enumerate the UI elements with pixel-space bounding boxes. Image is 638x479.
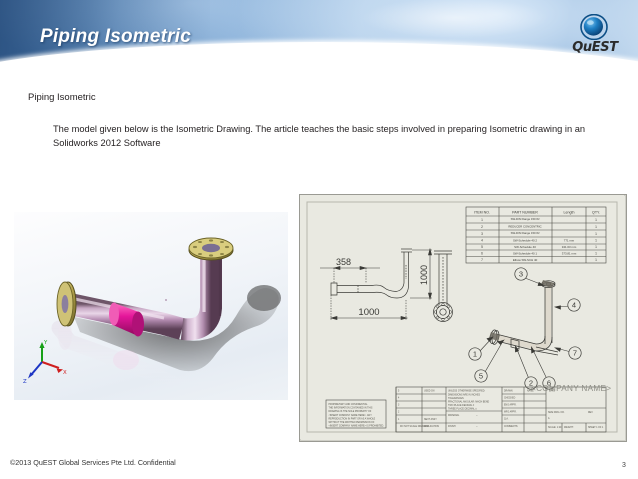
svg-text:FINISH: FINISH <box>448 426 456 428</box>
svg-text:6: 6 <box>481 252 483 256</box>
svg-text:DRAWN: DRAWN <box>504 390 513 393</box>
svg-text:COMMENTS:: COMMENTS: <box>504 426 518 428</box>
svg-text:SHEET 1 OF 1: SHEET 1 OF 1 <box>588 427 604 429</box>
axis-triad: Y X Z <box>23 340 67 385</box>
svg-text:5: 5 <box>481 245 483 249</box>
title-block-company-name: <COMPANY NAME> <box>531 384 611 393</box>
svg-text:CHECKED: CHECKED <box>504 398 516 400</box>
axis-label-z: Z <box>23 379 27 385</box>
svg-text:Q.A.: Q.A. <box>504 418 509 421</box>
svg-text:1: 1 <box>595 252 597 256</box>
svg-text:341.63 mm: 341.63 mm <box>562 245 577 249</box>
svg-text:REV: REV <box>588 412 593 414</box>
bom-header-length: Length <box>564 211 575 215</box>
svg-text:SW-DIN Flange 150 lbf: SW-DIN Flange 150 lbf <box>511 217 540 221</box>
svg-text:3: 3 <box>481 232 483 236</box>
quest-sphere-icon <box>580 14 608 40</box>
dimension-label-358: 358 <box>336 257 351 267</box>
svg-text:DIMENSIONS ARE IN INCHES: DIMENSIONS ARE IN INCHES <box>448 394 481 397</box>
page-number: 3 <box>622 462 626 469</box>
svg-text:1: 1 <box>595 232 597 236</box>
cad-drawing-sheet: ITEM NO. PART NUMBER Length QTY. 1 SW-DI… <box>299 194 627 442</box>
svg-text:1: 1 <box>595 218 597 222</box>
svg-text:Elbow SW-SCH 40: Elbow SW-SCH 40 <box>513 258 538 262</box>
balloon-4: 4 <box>572 301 576 310</box>
svg-text:DRAWING IS THE SOLE PROPERTY O: DRAWING IS THE SOLE PROPERTY OF <box>329 410 372 413</box>
svg-text:1: 1 <box>595 225 597 229</box>
elbow-and-vertical-pipe <box>182 252 220 329</box>
svg-text:MFG APPR.: MFG APPR. <box>504 411 517 414</box>
svg-text:TWO PLACE DECIMAL ±: TWO PLACE DECIMAL ± <box>448 404 475 407</box>
svg-text:SW-Schedule 40: SW-Schedule 40 <box>514 245 536 249</box>
svg-text:4: 4 <box>481 239 483 243</box>
dimension-label-horizontal-1000: 1000 <box>358 307 379 318</box>
svg-text:WITHOUT THE WRITTEN PERMISSION: WITHOUT THE WRITTEN PERMISSION OF <box>329 422 375 424</box>
piping-assembly-render: Y X Z <box>14 212 288 400</box>
svg-text:ENG APPR.: ENG APPR. <box>504 404 517 407</box>
svg-text:7: 7 <box>481 258 483 262</box>
svg-text:WEIGHT:: WEIGHT: <box>564 427 574 429</box>
svg-text:SCALE: 1:20: SCALE: 1:20 <box>548 426 562 429</box>
svg-text:1: 1 <box>481 218 483 222</box>
svg-text:NEXT ASSY: NEXT ASSY <box>424 418 437 421</box>
svg-text:THREE PLACE DECIMAL ±: THREE PLACE DECIMAL ± <box>448 408 477 411</box>
axis-label-y: Y <box>43 340 48 346</box>
bom-header-part: PART NUMBER <box>512 211 538 215</box>
page-title: Piping Isometric <box>40 26 191 48</box>
svg-text:FRACTIONAL ANGULAR: MACH BEN: FRACTIONAL ANGULAR: MACH BEND <box>448 401 489 404</box>
svg-text:2: 2 <box>481 225 483 229</box>
svg-text:PROPRIETARY AND CONFIDENTIAL: PROPRIETARY AND CONFIDENTIAL <box>329 403 369 406</box>
render-origin-marker <box>165 299 167 301</box>
axis-label-x: X <box>63 370 67 376</box>
bom-header-qty: QTY. <box>592 211 600 215</box>
svg-text:SW-DIN Flange 150 lbf: SW-DIN Flange 150 lbf <box>511 231 540 235</box>
footer-copyright: ©2013 QuEST Global Services Pte Ltd. Con… <box>10 458 176 467</box>
balloon-1: 1 <box>473 350 477 359</box>
balloon-7: 7 <box>573 349 577 358</box>
balloon-5: 5 <box>479 372 483 381</box>
svg-text:1: 1 <box>595 258 597 262</box>
banner-highlight <box>330 0 580 44</box>
balloon-3: 3 <box>519 270 523 279</box>
svg-text:REPRODUCTION IN PART OR AS A W: REPRODUCTION IN PART OR AS A WHOLE <box>329 417 376 420</box>
svg-text:REDUCER CONCENTRIC: REDUCER CONCENTRIC <box>508 224 541 228</box>
svg-text:APPLICATION: APPLICATION <box>424 425 439 428</box>
svg-text:SW-Schedule 40 2: SW-Schedule 40 2 <box>513 239 537 243</box>
svg-text:MATERIAL: MATERIAL <box>448 414 460 417</box>
svg-text:SIZE DWG. NO.: SIZE DWG. NO. <box>548 412 565 414</box>
left-flange <box>57 282 76 326</box>
header-banner: Piping Isometric <box>0 0 638 80</box>
quest-logo: QuEST <box>566 14 624 62</box>
svg-text:373.81 mm: 373.81 mm <box>562 252 577 256</box>
svg-text:UNLESS OTHERWISE SPECIFIED:: UNLESS OTHERWISE SPECIFIED: <box>448 391 485 393</box>
svg-text:USED ON: USED ON <box>424 391 435 393</box>
svg-text:THE INFORMATION CONTAINED IN T: THE INFORMATION CONTAINED IN THIS <box>329 407 373 410</box>
svg-text:771 mm: 771 mm <box>564 239 575 243</box>
svg-text:--: -- <box>476 415 478 417</box>
svg-text:<INSERT COMPANY NAME HERE>. AN: <INSERT COMPANY NAME HERE>. ANY <box>329 414 373 417</box>
slide-subtitle: Piping Isometric <box>28 92 96 103</box>
quest-wordmark: QuEST <box>566 40 624 55</box>
svg-text:1: 1 <box>595 239 597 243</box>
slide-paragraph: The model given below is the Isometric D… <box>53 122 613 150</box>
dimension-label-vertical-1000: 1000 <box>419 265 429 285</box>
top-flange <box>189 238 233 260</box>
svg-text:TOLERANCES:: TOLERANCES: <box>448 397 465 400</box>
svg-text:<INSERT COMPANY NAME HERE> IS: <INSERT COMPANY NAME HERE> IS PROHIBITED… <box>329 425 385 428</box>
svg-text:--: -- <box>476 426 478 428</box>
bom-header-item: ITEM NO. <box>474 211 490 215</box>
svg-text:1: 1 <box>595 245 597 249</box>
svg-text:SW-Schedule 40 1: SW-Schedule 40 1 <box>513 252 537 256</box>
